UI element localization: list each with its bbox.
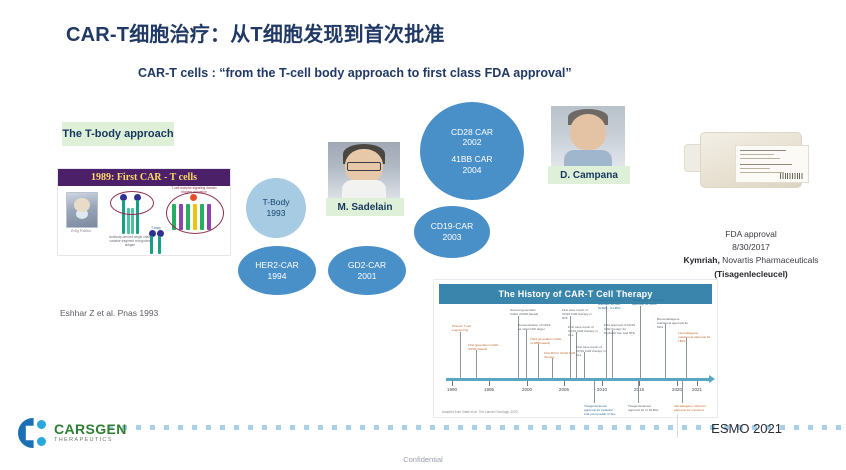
bag-label	[735, 145, 809, 183]
milestone-label: HER2-CAR	[255, 260, 298, 271]
conference-label: ESMO 2021	[711, 421, 782, 436]
milestone-circle-her2-car: HER2-CAR 1994	[238, 246, 316, 295]
fda-brand-name: Kymriah,	[683, 255, 719, 265]
event-stem	[538, 344, 539, 379]
timeline-event-note: Idecabtagene vicleucel approval for myel…	[674, 404, 708, 412]
note-signaling: T-cell receptor signaling domain trigger…	[170, 186, 218, 194]
axis-tick-label: 2005	[559, 387, 569, 392]
citation-eshhar: Eshhar Z et al. Pnas 1993	[60, 308, 158, 318]
timeline-event-note: Demonstration of CD19 as valid CAR targe…	[518, 323, 552, 331]
event-stem	[612, 330, 613, 379]
milestone-circle-costim-cars: CD28 CAR 2002 41BB CAR 2004	[420, 102, 524, 200]
fda-company-name: Novartis Pharmaceuticals	[720, 255, 819, 265]
company-logo: CARSGEN THERAPEUTICS	[18, 418, 127, 448]
timeline-event-note: Lisocabtagene maraleucel approval for LB…	[678, 331, 712, 343]
highlight-ellipse-scfv	[110, 191, 154, 215]
timeline-event-note: Third generation CARs (4-1BB based)	[530, 337, 564, 345]
timeline-title: The History of CAR-T Cell Therapy	[439, 284, 712, 304]
axis-tick-label: 2021	[692, 387, 702, 392]
milestone-label: T-Body	[263, 197, 290, 208]
milestone-year: 1993	[267, 208, 286, 219]
axis-tick	[602, 381, 603, 386]
logo-text: CARSGEN THERAPEUTICS	[54, 422, 127, 444]
event-stem	[552, 358, 553, 379]
confidential-footer: Confidential	[0, 455, 846, 464]
label-tbody-approach: The T-body approach	[62, 122, 174, 146]
event-stem	[640, 306, 641, 379]
event-stem	[682, 381, 683, 403]
bag-barcode	[780, 173, 804, 179]
costim-year-41bb: 2004	[451, 165, 492, 176]
event-stem	[526, 330, 527, 379]
product-cryobag-image	[684, 128, 804, 190]
car-molecule-center	[146, 230, 166, 254]
milestone-year: 2003	[443, 232, 462, 243]
fda-line-title: FDA approval	[656, 228, 846, 241]
axis-tick-label: 1995	[484, 387, 494, 392]
event-stem	[686, 338, 687, 379]
event-stem	[460, 332, 461, 379]
highlight-ellipse-signaling	[166, 192, 224, 234]
timeline-axis	[446, 378, 709, 381]
axis-tick	[564, 381, 565, 386]
timeline-event-note: Pioneer T cell engineering	[452, 324, 486, 332]
axis-tick-label: 2020	[672, 387, 682, 392]
label-campana: D. Campana	[548, 166, 630, 184]
carsgen-logo-mark	[18, 418, 48, 448]
event-stem	[665, 324, 666, 379]
milestone-circle-gd2-car: GD2-CAR 2001	[328, 246, 406, 295]
page-title: CAR-T细胞治疗：从T细胞发现到首次批准	[66, 18, 445, 47]
fda-line-date: 8/30/2017	[656, 241, 846, 254]
axis-tick	[452, 381, 453, 386]
timeline-event-note: Tisagenlecleucel approval for pediatric …	[584, 404, 618, 416]
timeline-event-note: First generation CARs (CD3ζ based)	[468, 343, 502, 351]
face-illustration	[328, 142, 400, 200]
logo-name: CARSGEN	[54, 422, 127, 436]
axis-tick	[527, 381, 528, 386]
panel-1989-figure: Zelig Eshhar Antibody-derived single cha…	[58, 186, 230, 255]
axis-tick	[489, 381, 490, 386]
costim-year-cd28: 2002	[451, 137, 493, 148]
panel-first-car-1989: 1989: First CAR - T cells Zelig Eshhar A…	[57, 168, 231, 256]
costim-group-cd28: CD28 CAR 2002	[451, 127, 493, 148]
label-sadelain: M. Sadelain	[326, 198, 404, 216]
scientist-caption: Zelig Eshhar	[62, 228, 100, 233]
timeline-event-note: Tisagenlecleucel licensed 1st line, DLBC…	[598, 298, 632, 310]
footer-divider	[677, 414, 678, 438]
fda-approval-note: FDA approval 8/30/2017 Kymriah, Novartis…	[656, 228, 846, 281]
timeline-source: Adapted from Vitale et al, The Lancet On…	[442, 410, 518, 414]
axis-tick	[639, 381, 640, 386]
milestone-year: 1994	[268, 271, 287, 282]
timeline-event-note: First Rif for CD19 CAR therapy	[544, 351, 578, 359]
costim-label-41bb: 41BB CAR	[451, 154, 492, 165]
timeline-event-note: First case report of CD19 CAR therapy in…	[576, 345, 610, 357]
milestone-label: CD19-CAR	[431, 221, 474, 232]
axis-tick-label: 2000	[522, 387, 532, 392]
portrait-sadelain	[328, 142, 400, 200]
timeline-event-note: Axicabtagene ciloleucel approval for LBC…	[632, 298, 666, 306]
portrait-campana	[551, 106, 625, 168]
note-tbody: T-body	[140, 226, 172, 230]
milestone-circle-cd19-car: CD19-CAR 2003	[414, 206, 490, 258]
milestone-label: GD2-CAR	[348, 260, 386, 271]
timeline-event-note: Brexucabtagene autoleucel approval for M…	[657, 317, 691, 329]
milestone-circle-t-body: T-Body 1993	[246, 178, 306, 238]
timeline-axis-arrow	[709, 375, 715, 383]
panel-1989-banner: 1989: First CAR - T cells	[58, 169, 230, 186]
event-stem	[638, 381, 639, 403]
axis-tick-label: 2015	[634, 387, 644, 392]
event-stem	[606, 306, 607, 379]
milestone-year: 2001	[358, 271, 377, 282]
page-subtitle: CAR-T cells : “from the T-cell body appr…	[138, 66, 572, 80]
costim-label-cd28: CD28 CAR	[451, 127, 493, 138]
face-illustration	[551, 106, 625, 168]
timeline-figure: The History of CAR-T Cell Therapy 1990 1…	[433, 279, 718, 418]
axis-tick-label: 1990	[447, 387, 457, 392]
logo-tagline: THERAPEUTICS	[54, 438, 127, 444]
fda-line-brand: Kymriah, Novartis Pharmaceuticals	[656, 254, 846, 267]
timeline-event-note: FDA approval of CD19 CAR therapy for Ped…	[604, 323, 638, 335]
timeline-event-note: First case report of CD19 CAR therapy in…	[568, 325, 602, 337]
timeline-event-note: Tisagenlecleucel approval for r/r DLBCL	[628, 404, 662, 412]
event-stem	[594, 381, 595, 403]
timeline-event-note: First case report of CD19 CAR therapy in…	[562, 308, 596, 320]
timeline-event-note: Second generation CARs (CD28 based)	[510, 308, 544, 316]
axis-tick	[677, 381, 678, 386]
slide-canvas: CAR-T细胞治疗：从T细胞发现到首次批准 CAR-T cells : “fro…	[0, 0, 846, 470]
axis-tick-label: 2010	[597, 387, 607, 392]
axis-tick	[697, 381, 698, 386]
bag-body	[700, 132, 802, 188]
event-stem	[476, 350, 477, 379]
scientist-photo-eshhar	[66, 192, 98, 228]
costim-group-41bb: 41BB CAR 2004	[451, 154, 492, 175]
